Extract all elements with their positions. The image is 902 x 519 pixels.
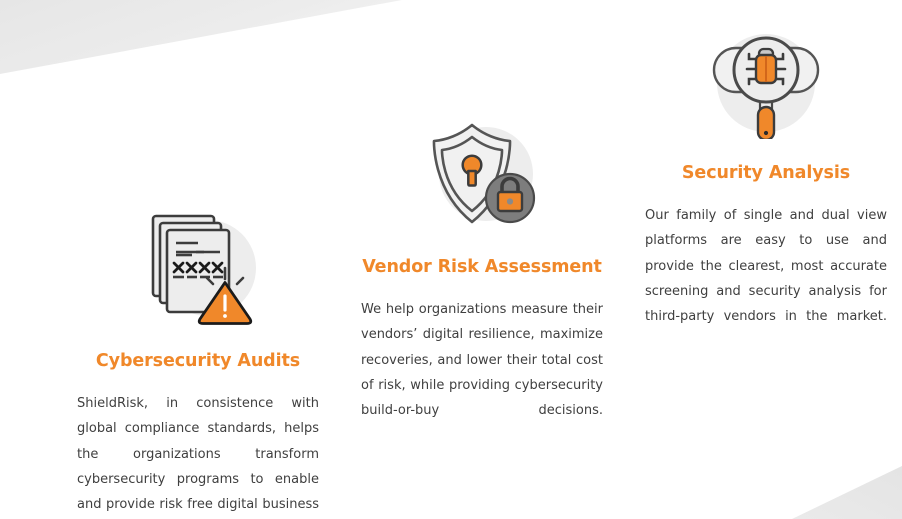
keyhole-stem (468, 171, 475, 186)
card-icon-container (58, 206, 338, 330)
shield-lock-icon (424, 118, 540, 230)
feature-cards-section: Cybersecurity Audits ShieldRisk, in cons… (0, 0, 902, 519)
magnifier-handle-dot (764, 131, 768, 135)
card-vendor-risk-assessment[interactable]: Vendor Risk Assessment We help organizat… (342, 112, 622, 449)
card-body-security-analysis: Our family of single and dual view platf… (645, 203, 887, 355)
card-security-analysis[interactable]: Security Analysis Our family of single a… (626, 18, 902, 355)
card-title-cybersecurity-audits: Cybersecurity Audits (58, 350, 338, 372)
card-title-security-analysis: Security Analysis (626, 162, 902, 184)
magnifier-bug-icon (704, 21, 828, 139)
wedge-top-left (0, 0, 402, 74)
card-icon-container (342, 112, 622, 236)
card-title-vendor-risk-assessment: Vendor Risk Assessment (342, 256, 622, 278)
documents-warning-icon (134, 209, 262, 327)
card-cybersecurity-audits[interactable]: Cybersecurity Audits ShieldRisk, in cons… (58, 206, 338, 519)
padlock-keyhole-dot (507, 198, 513, 204)
card-body-vendor-risk-assessment: We help organizations measure their vend… (361, 297, 603, 449)
wedge-bottom-right (792, 466, 902, 519)
card-body-cybersecurity-audits: ShieldRisk, in consistence with global c… (77, 391, 319, 519)
warning-exclamation-dot (223, 314, 227, 318)
card-icon-container (626, 18, 902, 142)
